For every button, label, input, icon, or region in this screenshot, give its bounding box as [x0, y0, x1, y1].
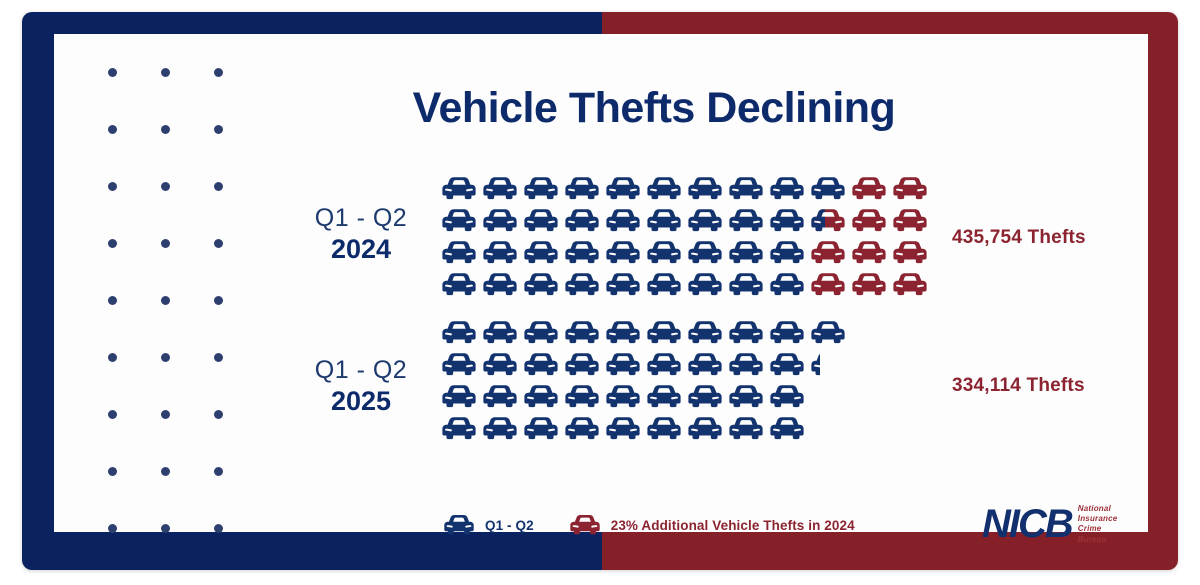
car-icon-navy	[686, 176, 727, 202]
grid-dot	[214, 410, 223, 419]
logo-word-line-2: Insurance	[1078, 514, 1118, 524]
grid-dot	[108, 239, 117, 248]
car-icon-navy	[727, 384, 768, 410]
car-icon-navy	[645, 320, 686, 346]
car-icon-navy	[563, 416, 604, 442]
grid-dot	[161, 125, 170, 134]
grid-dot	[214, 524, 223, 533]
car-icon-navy	[768, 272, 809, 298]
grid-dot	[108, 68, 117, 77]
car-icon-navy	[645, 272, 686, 298]
car-icon-navy	[727, 208, 768, 234]
grid-dot	[161, 353, 170, 362]
nicb-logo: NICB National Insurance Crime Bureau	[982, 504, 1117, 545]
car-icon-navy	[768, 352, 809, 378]
outer-frame: Vehicle Thefts Declining Q1 - Q2 2024 Q1…	[22, 12, 1178, 570]
car-icon-navy	[522, 208, 563, 234]
car-icon-navy	[604, 384, 645, 410]
car-icon-navy	[604, 240, 645, 266]
pictogram-row	[440, 384, 850, 416]
car-icon-navy	[686, 208, 727, 234]
grid-dot	[108, 467, 117, 476]
car-icon-navy	[686, 352, 727, 378]
legend-label-additional: 23% Additional Vehicle Thefts in 2024	[611, 518, 855, 533]
car-icon-navy	[604, 176, 645, 202]
car-icon-navy	[768, 176, 809, 202]
car-icon-navy	[645, 416, 686, 442]
pictogram-row	[440, 416, 850, 448]
total-thefts-2025: 334,114 Thefts	[952, 375, 1085, 397]
car-icon-navy	[768, 384, 809, 410]
car-icon-red	[809, 240, 850, 266]
car-icon-navy	[727, 272, 768, 298]
car-icon-red	[891, 240, 932, 266]
car-icon-navy	[604, 416, 645, 442]
car-icon-navy	[440, 272, 481, 298]
car-icon-navy	[522, 176, 563, 202]
grid-dot	[161, 467, 170, 476]
car-icon-navy	[645, 208, 686, 234]
year-value-2025: 2025	[276, 385, 446, 417]
nicb-logo-mark: NICB	[982, 504, 1072, 544]
car-icon-navy	[809, 352, 820, 378]
car-icon-navy	[727, 240, 768, 266]
car-icon-navy	[481, 320, 522, 346]
grid-dot	[108, 125, 117, 134]
car-icon-navy	[481, 176, 522, 202]
car-icon-navy	[563, 240, 604, 266]
car-icon-navy	[768, 416, 809, 442]
grid-dot	[161, 182, 170, 191]
car-icon-navy	[440, 240, 481, 266]
car-icon-navy	[563, 272, 604, 298]
car-icon-navy	[522, 416, 563, 442]
pictogram-row	[440, 240, 932, 272]
car-icon-navy	[768, 240, 809, 266]
car-icon-navy	[686, 272, 727, 298]
car-icon-navy	[563, 384, 604, 410]
car-icon-navy	[768, 208, 809, 234]
car-icon-navy	[440, 208, 481, 234]
car-icon-navy	[440, 416, 481, 442]
car-icon-red	[809, 272, 850, 298]
car-icon-red	[891, 208, 932, 234]
car-icon-navy	[645, 240, 686, 266]
grid-dot	[108, 410, 117, 419]
grid-dot	[161, 296, 170, 305]
car-icon-navy	[481, 208, 522, 234]
grid-dot	[214, 239, 223, 248]
car-icon-navy	[686, 416, 727, 442]
legend-item-additional: 23% Additional Vehicle Thefts in 2024	[568, 514, 855, 537]
quarter-label-2025: Q1 - Q2	[276, 356, 446, 385]
car-icon-navy	[522, 240, 563, 266]
infographic-root: Vehicle Thefts Declining Q1 - Q2 2024 Q1…	[0, 0, 1200, 585]
car-icon-navy	[604, 352, 645, 378]
car-icon-navy	[481, 384, 522, 410]
car-icon-navy	[481, 352, 522, 378]
car-icon-navy	[522, 352, 563, 378]
pictogram-row	[440, 352, 850, 384]
car-icon-navy	[727, 352, 768, 378]
car-icon-navy	[686, 240, 727, 266]
car-icon-navy	[481, 416, 522, 442]
year-label-2024: Q1 - Q2 2024	[276, 204, 446, 265]
grid-dot	[214, 125, 223, 134]
car-icon-navy	[604, 272, 645, 298]
quarter-label-2024: Q1 - Q2	[276, 204, 446, 233]
total-thefts-2024: 435,754 Thefts	[952, 227, 1086, 249]
logo-word-line-4: Bureau	[1078, 535, 1118, 545]
car-icon-navy	[809, 320, 850, 346]
grid-dot	[214, 296, 223, 305]
year-value-2024: 2024	[276, 233, 446, 265]
car-icon-red	[850, 272, 891, 298]
car-icon-navy	[440, 384, 481, 410]
year-label-2025: Q1 - Q2 2025	[276, 356, 446, 417]
grid-dot	[161, 524, 170, 533]
pictogram-grid-2025	[440, 320, 850, 448]
grid-dot	[214, 182, 223, 191]
grid-dot	[161, 239, 170, 248]
car-icon-navy	[686, 320, 727, 346]
car-icon-navy	[440, 176, 481, 202]
car-icon-navy	[809, 176, 850, 202]
grid-dot	[108, 524, 117, 533]
pictogram-grid-2024	[440, 176, 932, 304]
car-icon-navy	[645, 352, 686, 378]
car-icon-red	[850, 240, 891, 266]
car-icon-navy	[440, 320, 481, 346]
page-title: Vehicle Thefts Declining	[304, 84, 1004, 133]
car-icon-navy	[645, 176, 686, 202]
legend-item-q1q2: Q1 - Q2	[442, 514, 534, 537]
pictogram-row	[440, 208, 932, 240]
car-icon-red	[568, 514, 602, 537]
car-icon-navy	[440, 352, 481, 378]
car-icon-navy	[563, 320, 604, 346]
car-icon-navy	[727, 320, 768, 346]
car-icon-navy	[686, 384, 727, 410]
car-icon-navy	[727, 176, 768, 202]
legend: Q1 - Q2 23% Additional Vehicle Thefts in…	[442, 512, 889, 538]
car-icon-navy	[563, 352, 604, 378]
car-icon-navy	[604, 208, 645, 234]
grid-dot	[108, 182, 117, 191]
car-icon-red	[891, 272, 932, 298]
car-icon-split	[809, 208, 850, 234]
car-icon-navy	[481, 240, 522, 266]
car-icon-navy	[522, 384, 563, 410]
dot-grid-decoration	[108, 68, 258, 568]
car-icon-red	[891, 176, 932, 202]
car-icon-navy	[442, 514, 476, 537]
grid-dot	[214, 353, 223, 362]
car-icon-navy	[563, 208, 604, 234]
legend-label-q1q2: Q1 - Q2	[485, 518, 534, 533]
nicb-logo-wordmark: National Insurance Crime Bureau	[1078, 504, 1118, 545]
car-icon-navy	[522, 320, 563, 346]
car-icon-red	[850, 176, 891, 202]
grid-dot	[214, 68, 223, 77]
car-icon-red	[850, 208, 891, 234]
car-icon-navy	[481, 272, 522, 298]
grid-dot	[161, 410, 170, 419]
grid-dot	[108, 296, 117, 305]
car-icon-navy	[768, 320, 809, 346]
car-icon-navy	[604, 320, 645, 346]
car-icon-navy	[563, 176, 604, 202]
grid-dot	[108, 353, 117, 362]
car-icon-navy	[727, 416, 768, 442]
pictogram-row	[440, 176, 932, 208]
logo-word-line-1: National	[1078, 504, 1118, 514]
car-icon-navy	[522, 272, 563, 298]
grid-dot	[161, 68, 170, 77]
logo-word-line-3: Crime	[1078, 524, 1118, 534]
grid-dot	[214, 467, 223, 476]
pictogram-row	[440, 320, 850, 352]
content-canvas: Vehicle Thefts Declining Q1 - Q2 2024 Q1…	[54, 34, 1148, 532]
pictogram-row	[440, 272, 932, 304]
car-icon-navy	[645, 384, 686, 410]
